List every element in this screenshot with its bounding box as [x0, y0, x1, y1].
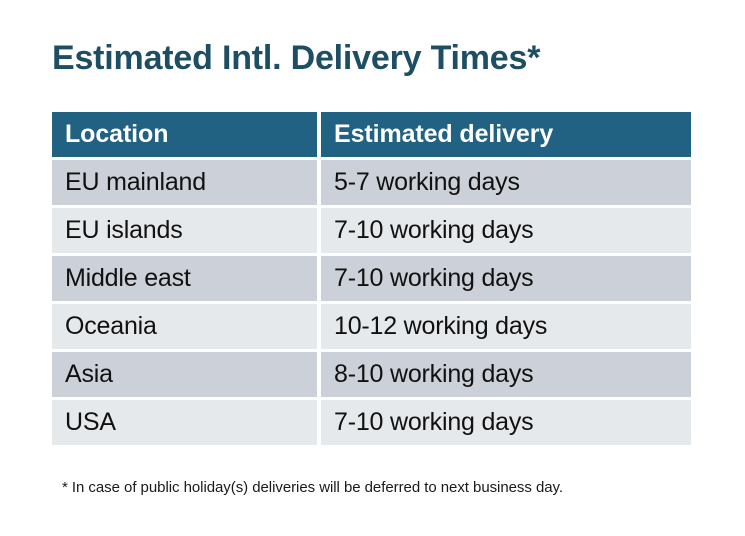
table-row: Oceania 10-12 working days: [52, 304, 691, 349]
table-cell-delivery: 10-12 working days: [321, 304, 691, 349]
table-cell-location: Middle east: [52, 256, 317, 301]
table-cell-location: EU islands: [52, 208, 317, 253]
table-cell-delivery-text: 7-10 working days: [334, 216, 533, 245]
table-header-cell-delivery: Estimated delivery: [321, 112, 691, 157]
table-header-row: Location Estimated delivery: [52, 112, 691, 157]
table-cell-delivery: 7-10 working days: [321, 256, 691, 301]
table-cell-delivery-text: 10-12 working days: [334, 312, 547, 341]
table-cell-delivery: 8-10 working days: [321, 352, 691, 397]
table-cell-location-text: USA: [65, 408, 116, 437]
table-header-label-location: Location: [65, 120, 168, 149]
table-cell-delivery-text: 7-10 working days: [334, 264, 533, 293]
delivery-times-table: Location Estimated delivery EU mainland …: [52, 112, 691, 445]
table-row: Middle east 7-10 working days: [52, 256, 691, 301]
table-cell-location-text: Oceania: [65, 312, 157, 341]
table-header-cell-location: Location: [52, 112, 317, 157]
table-header-label-delivery: Estimated delivery: [334, 120, 553, 149]
table-row: Asia 8-10 working days: [52, 352, 691, 397]
table-cell-location: Oceania: [52, 304, 317, 349]
table-cell-location-text: Asia: [65, 360, 113, 389]
table-cell-delivery-text: 8-10 working days: [334, 360, 533, 389]
table-cell-location: EU mainland: [52, 160, 317, 205]
table-cell-delivery: 5-7 working days: [321, 160, 691, 205]
table-cell-delivery-text: 7-10 working days: [334, 408, 533, 437]
delivery-times-page: Estimated Intl. Delivery Times* Location…: [0, 0, 745, 536]
footnote-text: * In case of public holiday(s) deliverie…: [62, 479, 563, 496]
table-row: USA 7-10 working days: [52, 400, 691, 445]
table-cell-location: Asia: [52, 352, 317, 397]
table-cell-delivery-text: 5-7 working days: [334, 168, 520, 197]
table-cell-location-text: EU mainland: [65, 168, 206, 197]
table-row: EU islands 7-10 working days: [52, 208, 691, 253]
table-row: EU mainland 5-7 working days: [52, 160, 691, 205]
table-cell-delivery: 7-10 working days: [321, 208, 691, 253]
table-cell-location: USA: [52, 400, 317, 445]
table-cell-location-text: Middle east: [65, 264, 191, 293]
table-cell-location-text: EU islands: [65, 216, 183, 245]
table-cell-delivery: 7-10 working days: [321, 400, 691, 445]
page-title: Estimated Intl. Delivery Times*: [52, 38, 540, 78]
